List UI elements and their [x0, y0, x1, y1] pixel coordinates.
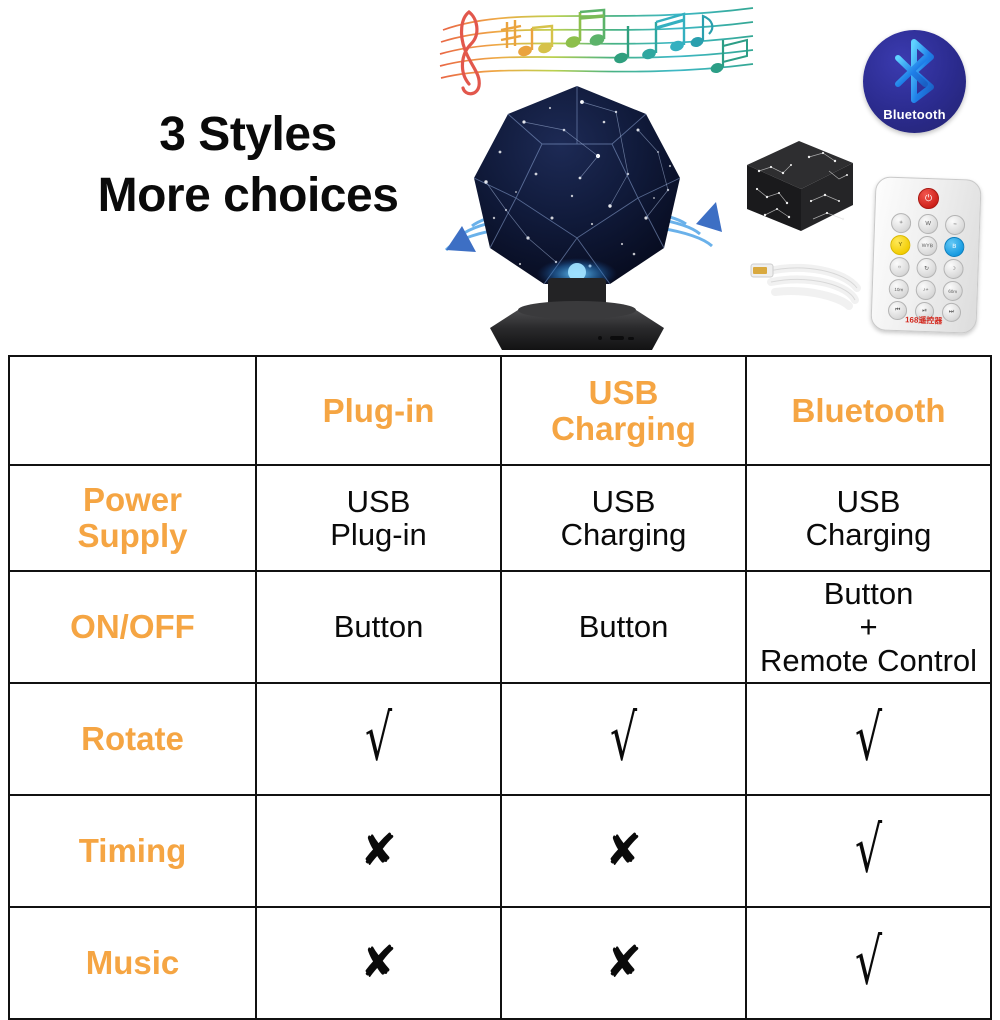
- cell-power-supply-bluetooth: USB Charging: [746, 465, 991, 571]
- remote-brightness-up-button: +: [891, 213, 912, 234]
- remote-brightness-down-button: −: [945, 215, 966, 236]
- check-icon: √: [855, 931, 882, 994]
- row-label-power-supply-line2: Supply: [77, 517, 187, 554]
- remote-blue-button: B: [944, 237, 965, 258]
- cell-music-plugin: ✘: [256, 907, 501, 1019]
- cell-timing-usb: ✘: [501, 795, 746, 907]
- cell-power-supply-usb: USB Charging: [501, 465, 746, 571]
- remote-control-icon: ⏻ + W − Y WYB B ☼ ↻ ☽ 10m ♪+ 60m ⏮ ⏯ ⏭ 1…: [870, 176, 981, 334]
- cell-rotate-plugin: √: [256, 683, 501, 795]
- cell-rotate-bluetooth: √: [746, 683, 991, 795]
- bluetooth-icon: [863, 36, 966, 104]
- row-label-rotate: Rotate: [9, 683, 256, 795]
- remote-mode-a-button: ☼: [889, 257, 910, 278]
- table-row-onoff: ON/OFF Button Button Button + Remote Con…: [9, 571, 991, 683]
- remote-model-label: 168遥控器: [872, 313, 976, 328]
- cell-timing-plugin: ✘: [256, 795, 501, 907]
- table-header-row: Plug-in USB Charging Bluetooth: [9, 356, 991, 465]
- row-label-power-supply: Power Supply: [9, 465, 256, 571]
- cross-icon: ✘: [360, 829, 397, 873]
- remote-white-button: W: [918, 214, 939, 235]
- column-header-usb-charging-line1: USB: [589, 374, 659, 411]
- cell-power-supply-plugin-line2: Plug-in: [330, 517, 427, 552]
- usb-cable-icon: [745, 248, 870, 320]
- cross-icon: ✘: [605, 829, 642, 873]
- row-label-onoff: ON/OFF: [9, 571, 256, 683]
- cell-power-supply-bluetooth-line2: Charging: [806, 517, 932, 552]
- cross-icon: ✘: [605, 941, 642, 985]
- remote-rotate-button: ↻: [916, 258, 937, 279]
- column-header-usb-charging: USB Charging: [501, 356, 746, 465]
- column-header-usb-charging-line2: Charging: [551, 410, 696, 447]
- check-icon: √: [855, 707, 882, 770]
- cell-onoff-bluetooth-line3: Remote Control: [760, 643, 977, 678]
- check-icon: √: [610, 707, 637, 770]
- product-hero-image: 3 Styles More choices: [0, 0, 1000, 355]
- headline-line-1: 3 Styles: [48, 104, 448, 165]
- cell-music-usb: ✘: [501, 907, 746, 1019]
- cell-onoff-usb: Button: [501, 571, 746, 683]
- row-label-music: Music: [9, 907, 256, 1019]
- cell-onoff-plugin: Button: [256, 571, 501, 683]
- check-icon: √: [855, 819, 882, 882]
- row-label-timing: Timing: [9, 795, 256, 907]
- cell-onoff-bluetooth-line1: Button: [824, 576, 914, 611]
- column-header-plugin: Plug-in: [256, 356, 501, 465]
- remote-mode-b-button: ☽: [943, 259, 964, 280]
- remote-timer-60min-button: 60m: [942, 281, 963, 302]
- page-title: 3 Styles More choices: [48, 104, 448, 227]
- cell-rotate-usb: √: [501, 683, 746, 795]
- table-row-power-supply: Power Supply USB Plug-in USB Charging US…: [9, 465, 991, 571]
- bluetooth-badge-label: Bluetooth: [863, 107, 966, 122]
- cell-music-bluetooth: √: [746, 907, 991, 1019]
- remote-yellow-button: Y: [890, 235, 911, 256]
- column-header-bluetooth-line1: Bluetooth: [792, 392, 946, 429]
- table-corner-cell: [9, 356, 256, 465]
- remote-wyb-button: WYB: [917, 236, 938, 257]
- cell-power-supply-usb-line1: USB: [592, 484, 656, 519]
- remote-volume-up-button: ♪+: [915, 280, 936, 301]
- cell-power-supply-plugin: USB Plug-in: [256, 465, 501, 571]
- headline-line-2: More choices: [48, 165, 448, 226]
- cell-power-supply-bluetooth-line1: USB: [837, 484, 901, 519]
- table-row-timing: Timing ✘ ✘ √: [9, 795, 991, 907]
- cell-timing-bluetooth: √: [746, 795, 991, 907]
- constellation-gift-box-icon: [739, 127, 859, 237]
- cross-icon: ✘: [360, 941, 397, 985]
- check-icon: √: [365, 707, 392, 770]
- cell-onoff-bluetooth: Button + Remote Control: [746, 571, 991, 683]
- cell-power-supply-plugin-line1: USB: [347, 484, 411, 519]
- remote-power-button: ⏻: [918, 188, 940, 210]
- remote-timer-10min-button: 10m: [888, 279, 909, 300]
- cell-power-supply-usb-line2: Charging: [561, 517, 687, 552]
- bluetooth-badge: Bluetooth: [863, 30, 966, 133]
- star-projector-lamp-icon: [432, 78, 722, 355]
- column-header-plugin-line1: Plug-in: [323, 392, 435, 429]
- cell-onoff-bluetooth-line2: +: [859, 609, 877, 644]
- table-row-music: Music ✘ ✘ √: [9, 907, 991, 1019]
- comparison-table: Plug-in USB Charging Bluetooth Power Sup…: [8, 355, 992, 1020]
- column-header-bluetooth: Bluetooth: [746, 356, 991, 465]
- row-label-power-supply-line1: Power: [83, 481, 182, 518]
- table-row-rotate: Rotate √ √ √: [9, 683, 991, 795]
